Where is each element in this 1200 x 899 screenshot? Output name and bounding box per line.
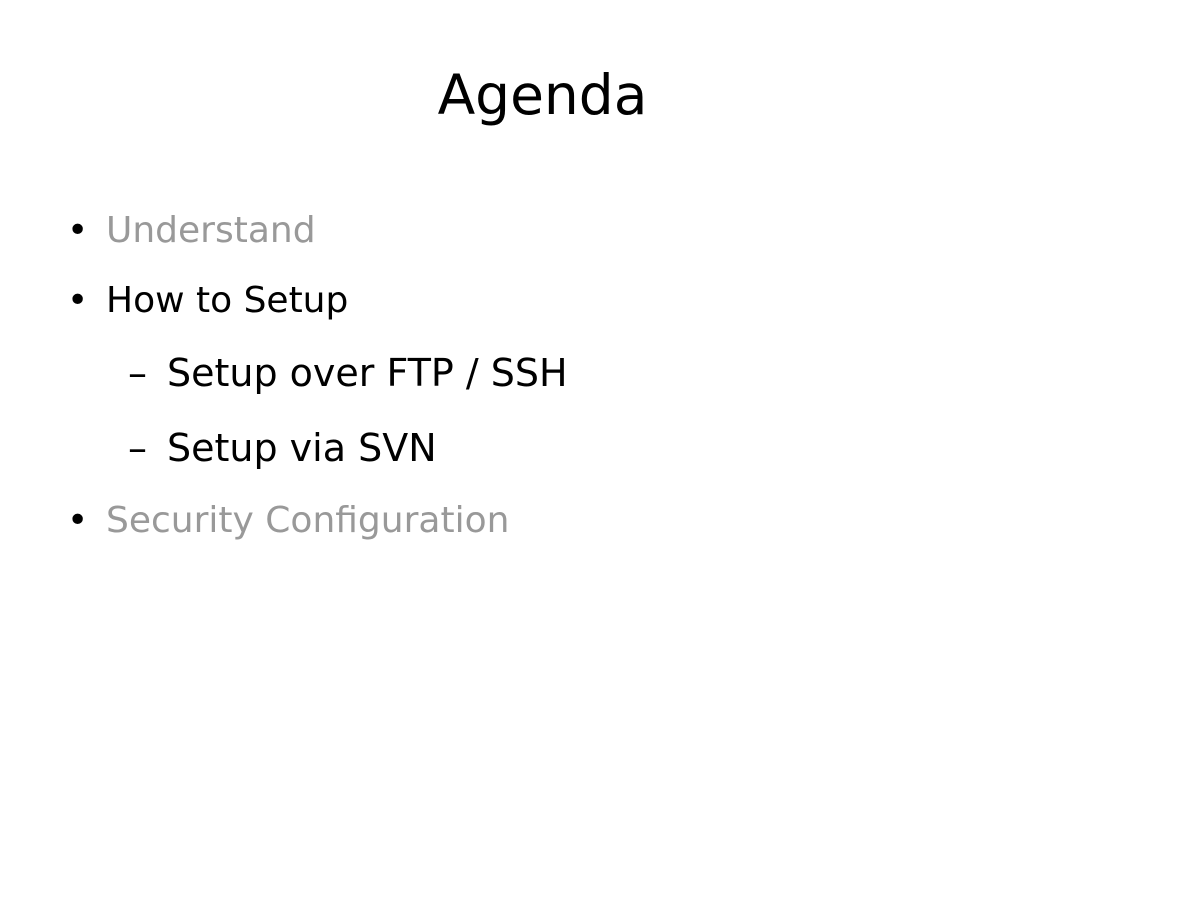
- outline-list: • Understand • How to Setup – Setup over…: [60, 196, 1150, 556]
- bullet-point-icon: •: [67, 196, 93, 266]
- list-item-label: How to Setup: [106, 280, 348, 321]
- bullet-point-icon: •: [67, 486, 93, 556]
- bullet-point-icon: •: [67, 266, 93, 336]
- list-item[interactable]: • Understand: [60, 196, 1150, 266]
- dash-bullet-icon: –: [128, 336, 158, 411]
- dash-bullet-icon: –: [128, 411, 158, 486]
- list-item-label: Setup over FTP / SSH: [167, 351, 568, 395]
- presentation-slide: Agenda • Understand • How to Setup – Set…: [0, 0, 1200, 899]
- list-item[interactable]: – Setup over FTP / SSH: [60, 336, 1150, 411]
- list-item-label: Setup via SVN: [167, 426, 437, 470]
- list-item[interactable]: • Security Configuration: [60, 486, 1150, 556]
- list-item[interactable]: • How to Setup: [60, 266, 1150, 336]
- list-item[interactable]: – Setup via SVN: [60, 411, 1150, 486]
- list-item-label: Security Configuration: [106, 500, 509, 541]
- page-title: Agenda: [60, 62, 1025, 128]
- list-item-label: Understand: [106, 210, 316, 251]
